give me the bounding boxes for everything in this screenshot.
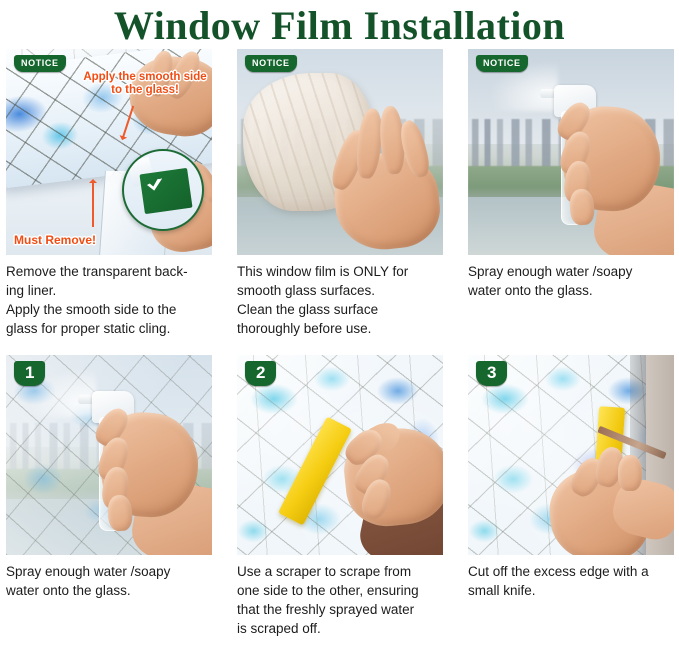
must-remove-arrow-icon bbox=[92, 181, 94, 227]
step-number-badge: 3 bbox=[476, 361, 507, 386]
panel-6-photo: 3 bbox=[468, 355, 674, 555]
finger-icon bbox=[618, 455, 642, 491]
instruction-row-top: Apply the smooth side to the glass! Must… bbox=[6, 49, 673, 338]
panel-4-photo: 1 bbox=[6, 355, 212, 555]
notice-badge: NOTICE bbox=[245, 55, 297, 72]
instruction-grid: Apply the smooth side to the glass! Must… bbox=[0, 49, 679, 638]
panel-4-caption: Spray enough water /soapy water onto the… bbox=[6, 562, 212, 600]
instruction-panel-3: NOTICE Spray enough water /soapy water o… bbox=[468, 49, 674, 338]
overlay-apply-smooth-side-text: Apply the smooth side to the glass! bbox=[83, 71, 207, 97]
instruction-panel-5: 2 Use a scraper to scrape from one side … bbox=[237, 355, 443, 638]
notice-badge: NOTICE bbox=[14, 55, 66, 72]
instruction-panel-1: Apply the smooth side to the glass! Must… bbox=[6, 49, 212, 338]
panel-5-photo: 2 bbox=[237, 355, 443, 555]
panel-6-caption: Cut off the excess edge with a small kni… bbox=[468, 562, 674, 600]
detail-magnifier-circle bbox=[122, 149, 204, 231]
step-number-badge: 1 bbox=[14, 361, 45, 386]
step-number-badge: 2 bbox=[245, 361, 276, 386]
instruction-panel-2: NOTICE This window film is ONLY for smoo… bbox=[237, 49, 443, 338]
panel-3-photo: NOTICE bbox=[468, 49, 674, 255]
page-title: Window Film Installation bbox=[0, 0, 679, 49]
panel-2-caption: This window film is ONLY for smooth glas… bbox=[237, 262, 443, 338]
panel-3-caption: Spray enough water /soapy water onto the… bbox=[468, 262, 674, 300]
instruction-panel-4: 1 Spray enough water /soapy water onto t… bbox=[6, 355, 212, 638]
panel-1-photo: Apply the smooth side to the glass! Must… bbox=[6, 49, 212, 255]
overlay-must-remove-text: Must Remove! bbox=[14, 233, 96, 247]
panel-5-caption: Use a scraper to scrape from one side to… bbox=[237, 562, 443, 638]
green-check-card bbox=[139, 168, 192, 214]
instruction-panel-6: 3 Cut off the excess edge with a small k… bbox=[468, 355, 674, 638]
notice-badge: NOTICE bbox=[476, 55, 528, 72]
instruction-row-bottom: 1 Spray enough water /soapy water onto t… bbox=[6, 355, 673, 638]
panel-1-caption: Remove the transparent back- ing liner. … bbox=[6, 262, 212, 338]
panel-2-photo: NOTICE bbox=[237, 49, 443, 255]
